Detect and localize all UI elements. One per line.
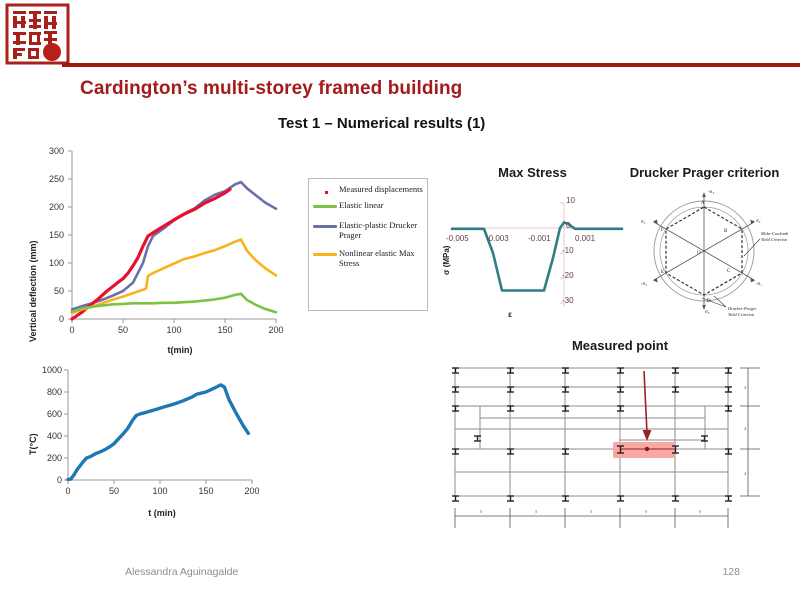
- drucker-prager-line-icon: [313, 220, 339, 228]
- svg-text:-σ₃: -σ₃: [708, 190, 714, 195]
- x-tick: 150: [213, 325, 237, 335]
- svg-text:Yield Criterion: Yield Criterion: [728, 312, 755, 317]
- svg-text:A: A: [701, 201, 705, 206]
- svg-text:Yield Criterion: Yield Criterion: [761, 237, 788, 242]
- bay-dim-label: 5: [535, 509, 538, 514]
- svg-text:C: C: [727, 269, 731, 274]
- legend-label: Measured displacements: [339, 184, 423, 194]
- building-frame-diagram: Measured point: [430, 338, 800, 538]
- legend-item-drucker-prager: Elastic-plastic Drucker Prager: [313, 220, 423, 240]
- svg-text:E: E: [661, 270, 664, 275]
- y-tick: 10: [566, 196, 575, 205]
- legend-item-max-stress: Nonlinear elastic Max Stress: [313, 248, 423, 268]
- bay-dim-label: 5: [699, 509, 702, 514]
- header-divider: [62, 63, 800, 67]
- svg-text:D: D: [707, 299, 711, 304]
- legend-item-elastic-linear: Elastic linear: [313, 200, 423, 210]
- x-tick: 200: [240, 486, 264, 496]
- max-stress-x-axis-title: ε: [495, 310, 525, 319]
- x-tick: -0.003: [486, 234, 509, 243]
- elastic-linear-line-icon: [313, 200, 339, 208]
- bay-dim-label: 5: [590, 509, 593, 514]
- x-tick: 50: [104, 486, 124, 496]
- max-stress-chart: Max Stress σ (MPa) 10 0 -10 -20 -30 -0.0…: [440, 165, 625, 330]
- x-tick: 100: [148, 486, 172, 496]
- y-tick: -20: [562, 271, 574, 280]
- svg-text:σ₃: σ₃: [705, 310, 710, 315]
- x-tick: 50: [113, 325, 133, 335]
- x-tick: 150: [194, 486, 218, 496]
- svg-text:F: F: [661, 228, 664, 233]
- footer-author: Alessandra Aguinagalde: [125, 566, 238, 578]
- svg-text:-σ₁: -σ₁: [756, 282, 762, 287]
- bay-dim-label: 5: [480, 509, 483, 514]
- deflection-chart: Vertical deflection (mm) 300 250 200 150…: [20, 142, 320, 367]
- measured-point-title: Measured point: [490, 338, 750, 353]
- svg-text:σ₁: σ₁: [641, 220, 646, 225]
- svg-text:σ₂: σ₂: [756, 219, 761, 224]
- storey-dim-label: 4: [744, 385, 747, 390]
- legend-item-measured: Measured displacements: [313, 184, 423, 194]
- x-tick: 200: [264, 325, 288, 335]
- temperature-x-axis-title: t (min): [132, 508, 192, 518]
- svg-text:O: O: [697, 251, 701, 256]
- x-tick: 0.001: [575, 234, 595, 243]
- red-seal-logo: [6, 4, 72, 66]
- measured-marker-icon: [313, 184, 339, 194]
- measured-point-arrow: [644, 371, 647, 433]
- bay-dim-label: 5: [645, 509, 648, 514]
- legend-label: Elastic-plastic Drucker Prager: [339, 220, 423, 240]
- footer-page-number: 128: [722, 566, 740, 578]
- drucker-prager-title: Drucker Prager criterion: [612, 165, 797, 180]
- storey-dim-label: 4: [744, 426, 747, 431]
- x-tick: 0: [62, 325, 82, 335]
- temperature-chart: T(°C) 1000 800 600 400 200 0 0 50 100 15…: [20, 360, 290, 535]
- y-tick: 0: [566, 221, 570, 230]
- svg-text:-σ₂: -σ₂: [641, 282, 647, 287]
- y-tick: -10: [562, 246, 574, 255]
- storey-dim-label: 4: [744, 471, 747, 476]
- drucker-prager-diagram: Drucker Prager criterion A B C D E F: [612, 165, 797, 330]
- x-tick: -0.005: [446, 234, 469, 243]
- measured-point-highlight: [613, 442, 675, 458]
- max-stress-line-icon: [313, 248, 339, 256]
- deflection-x-axis-title: t(min): [150, 345, 210, 355]
- legend-label: Elastic linear: [339, 200, 384, 210]
- svg-text:B: B: [724, 229, 728, 234]
- max-stress-title: Max Stress: [440, 165, 625, 180]
- y-tick: -30: [562, 296, 574, 305]
- legend-label: Nonlinear elastic Max Stress: [339, 248, 423, 268]
- svg-text:Mohr-Coulomb: Mohr-Coulomb: [760, 231, 789, 236]
- svg-text:Drucker-Prager: Drucker-Prager: [727, 306, 757, 311]
- x-tick: -0.001: [528, 234, 551, 243]
- page-title: Cardington’s multi-storey framed buildin…: [80, 78, 680, 100]
- x-tick: 100: [162, 325, 186, 335]
- x-tick: 0: [58, 486, 78, 496]
- page-subtitle: Test 1 – Numerical results (1): [278, 115, 698, 132]
- deflection-chart-legend: Measured displacements Elastic linear El…: [308, 178, 428, 311]
